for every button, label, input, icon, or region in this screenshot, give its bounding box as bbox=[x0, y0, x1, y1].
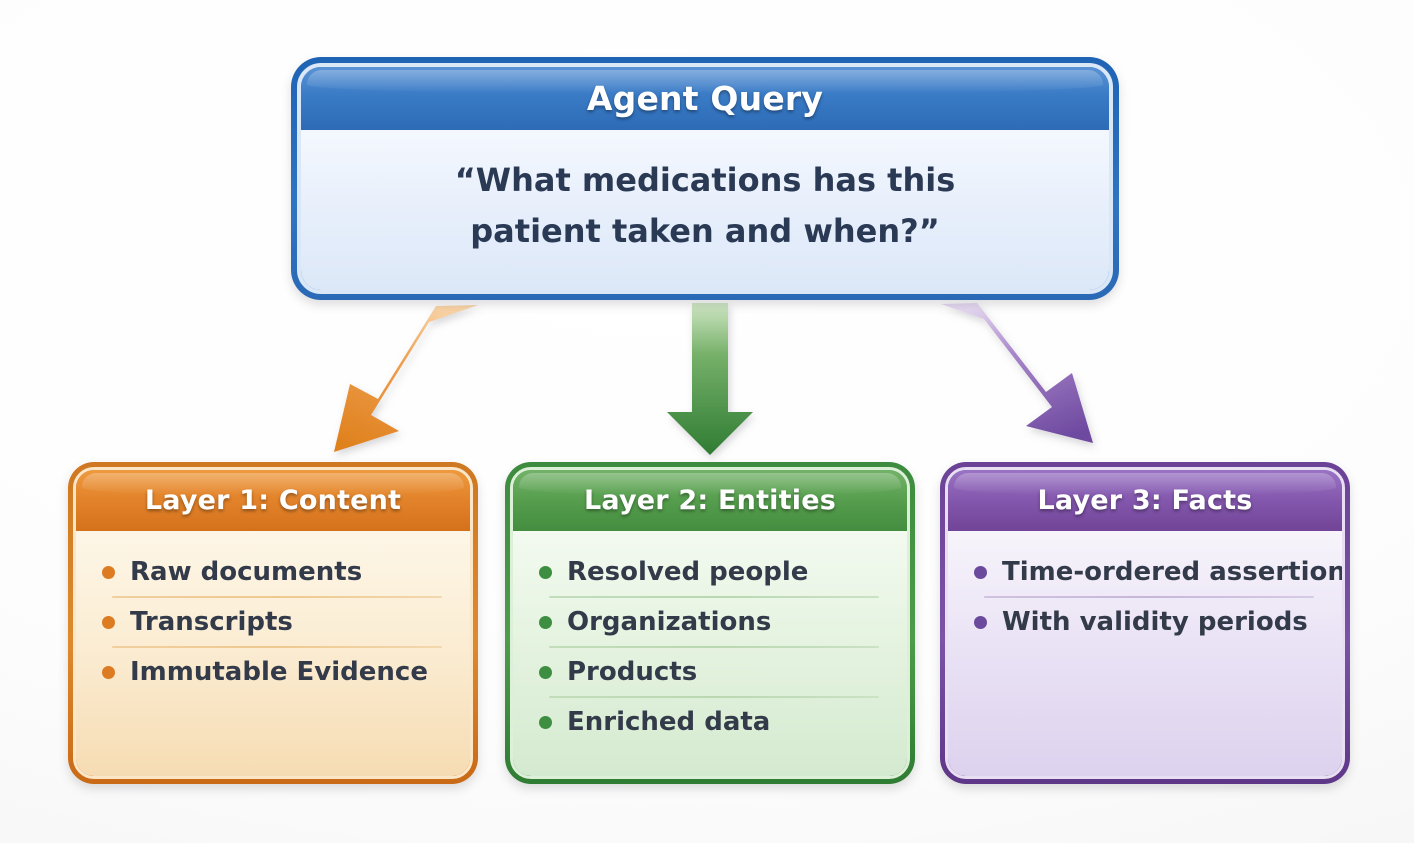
list-item-label: Immutable Evidence bbox=[130, 657, 428, 687]
layer-3-card: Layer 3: Facts Time-ordered assertions W… bbox=[940, 462, 1350, 784]
layer-3-header: Layer 3: Facts bbox=[948, 470, 1342, 531]
arrow-to-layer-1 bbox=[334, 305, 478, 452]
list-item-label: Raw documents bbox=[130, 557, 362, 587]
list-item-label: Products bbox=[567, 657, 697, 687]
bullet-icon bbox=[974, 616, 987, 629]
bullet-icon bbox=[539, 666, 552, 679]
agent-query-body: “What medications has this patient taken… bbox=[301, 130, 1109, 290]
bullet-icon bbox=[102, 566, 115, 579]
bullet-icon bbox=[539, 566, 552, 579]
list-item-label: With validity periods bbox=[1002, 607, 1308, 637]
list-item: Immutable Evidence bbox=[100, 648, 450, 696]
agent-query-text-line-1: “What medications has this bbox=[455, 161, 956, 199]
list-item-label: Enriched data bbox=[567, 707, 770, 737]
list-item: Organizations bbox=[537, 598, 887, 646]
layer-1-item-list: Raw documents Transcripts Immutable Evid… bbox=[100, 548, 450, 696]
layer-1-card: Layer 1: Content Raw documents Transcrip… bbox=[68, 462, 478, 784]
arrow-to-layer-2 bbox=[667, 303, 753, 455]
bullet-icon bbox=[102, 666, 115, 679]
agent-query-header: Agent Query bbox=[301, 67, 1109, 130]
layer-2-body: Resolved people Organizations Products bbox=[513, 531, 907, 776]
agent-query-text-line-2: patient taken and when?” bbox=[470, 212, 939, 250]
bullet-icon bbox=[539, 616, 552, 629]
layer-1-header: Layer 1: Content bbox=[76, 470, 470, 531]
list-item: With validity periods bbox=[972, 598, 1322, 646]
agent-query-inner: Agent Query “What medications has this p… bbox=[297, 63, 1113, 294]
list-item-label: Organizations bbox=[567, 607, 771, 637]
list-item: Resolved people bbox=[537, 548, 887, 596]
layer-3-body: Time-ordered assertions With validity pe… bbox=[948, 531, 1342, 776]
list-item-label: Resolved people bbox=[567, 557, 808, 587]
list-item: Enriched data bbox=[537, 698, 887, 746]
list-item: Raw documents bbox=[100, 548, 450, 596]
layer-1-body: Raw documents Transcripts Immutable Evid… bbox=[76, 531, 470, 776]
layer-1-inner: Layer 1: Content Raw documents Transcrip… bbox=[73, 467, 473, 779]
bullet-icon bbox=[102, 616, 115, 629]
list-item: Time-ordered assertions bbox=[972, 548, 1322, 596]
layer-2-card: Layer 2: Entities Resolved people Organi… bbox=[505, 462, 915, 784]
layer-2-item-list: Resolved people Organizations Products bbox=[537, 548, 887, 746]
layer-2-header: Layer 2: Entities bbox=[513, 470, 907, 531]
arrow-to-layer-3 bbox=[941, 303, 1093, 443]
bullet-icon bbox=[974, 566, 987, 579]
layer-3-item-list: Time-ordered assertions With validity pe… bbox=[972, 548, 1322, 646]
list-item: Transcripts bbox=[100, 598, 450, 646]
agent-query-box: Agent Query “What medications has this p… bbox=[291, 57, 1119, 300]
list-item-label: Time-ordered assertions bbox=[1002, 557, 1345, 587]
diagram-canvas: Agent Query “What medications has this p… bbox=[0, 0, 1414, 843]
layer-2-inner: Layer 2: Entities Resolved people Organi… bbox=[510, 467, 910, 779]
agent-query-text: “What medications has this patient taken… bbox=[455, 155, 956, 256]
list-item-label: Transcripts bbox=[130, 607, 293, 637]
list-item: Products bbox=[537, 648, 887, 696]
bullet-icon bbox=[539, 716, 552, 729]
layer-3-inner: Layer 3: Facts Time-ordered assertions W… bbox=[945, 467, 1345, 779]
